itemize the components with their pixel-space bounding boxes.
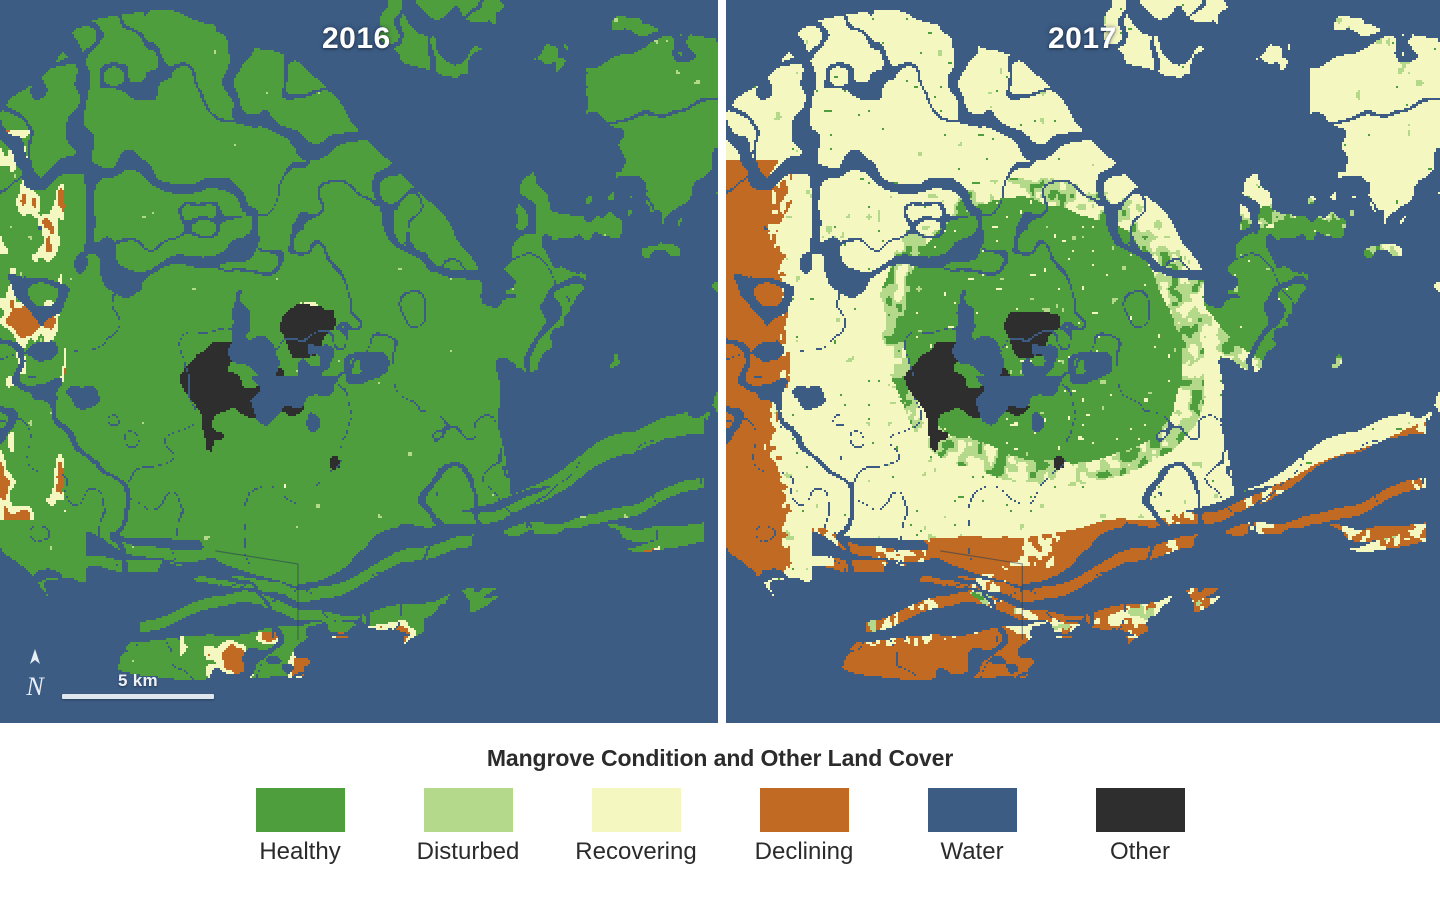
legend-label: Recovering (575, 838, 696, 866)
map-raster-2016 (0, 0, 718, 723)
legend-item: Healthy (231, 788, 369, 866)
legend-label: Healthy (259, 838, 340, 866)
legend-swatch (1096, 788, 1185, 832)
scale-bar-line (62, 694, 214, 699)
map-panel-2017[interactable] (726, 0, 1440, 723)
map-comparison: N 5 km 2016 2017 (0, 0, 1440, 723)
svg-text:N: N (25, 672, 45, 701)
legend-swatch (256, 788, 345, 832)
legend-title: Mangrove Condition and Other Land Cover (0, 723, 1440, 772)
legend-swatch (424, 788, 513, 832)
legend-label: Water (940, 838, 1003, 866)
legend-label: Declining (755, 838, 854, 866)
legend-label: Other (1110, 838, 1170, 866)
figure-root: N 5 km 2016 2017 Mangrove Condition and … (0, 0, 1440, 899)
north-arrow-icon: N (18, 647, 52, 701)
map-raster-2017 (726, 0, 1440, 723)
legend-item: Declining (735, 788, 873, 866)
legend-item: Recovering (567, 788, 705, 866)
legend-item: Water (903, 788, 1041, 866)
map-panel-2016[interactable]: N 5 km (0, 0, 718, 723)
legend: Mangrove Condition and Other Land Cover … (0, 723, 1440, 899)
legend-items: HealthyDisturbedRecoveringDecliningWater… (0, 788, 1440, 866)
legend-swatch (592, 788, 681, 832)
legend-swatch (928, 788, 1017, 832)
scale-bar-label: 5 km (62, 671, 214, 691)
scale-bar: 5 km (62, 671, 214, 701)
legend-label: Disturbed (417, 838, 520, 866)
legend-swatch (760, 788, 849, 832)
legend-item: Disturbed (399, 788, 537, 866)
legend-item: Other (1071, 788, 1209, 866)
scalebar-group: N 5 km (18, 647, 214, 701)
